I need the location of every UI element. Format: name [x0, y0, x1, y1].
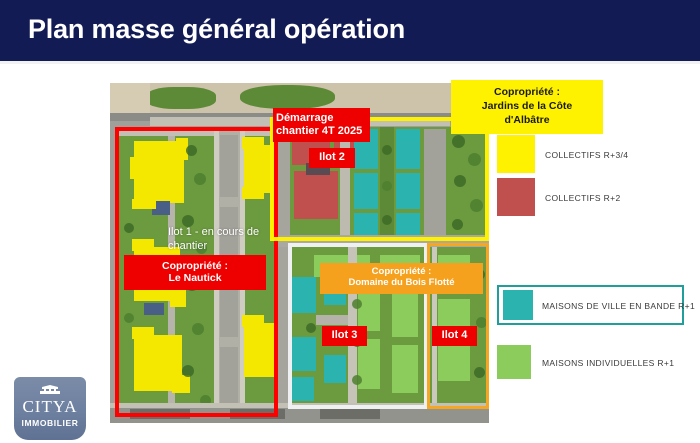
legend-swatch-maisons-ville — [503, 290, 533, 320]
page-title: Plan masse général opération — [28, 14, 405, 45]
callout-ilot-4: Ilot 4 — [432, 326, 477, 346]
callout-ilot-3: Ilot 3 — [322, 326, 367, 346]
legend-label-maisons-individuelles: MAISONS INDIVIDUELLES R+1 — [542, 358, 674, 368]
legend-swatch-collectifs-r2 — [497, 178, 535, 216]
callout-ilot-2: Ilot 2 — [309, 148, 355, 168]
logo-subtitle: IMMOBILIER — [14, 418, 86, 428]
building-icon — [40, 385, 60, 394]
legend-label-collectifs-r2: COLLECTIFS R+2 — [545, 193, 621, 203]
citya-logo: CITYA IMMOBILIER — [14, 377, 86, 440]
callout-demarrage-chantier: Démarrage chantier 4T 2025 — [273, 108, 370, 142]
logo-wordmark: CITYA — [14, 397, 86, 417]
legend-label-collectifs-r34: COLLECTIFS R+3/4 — [545, 150, 628, 160]
header-divider — [0, 61, 700, 64]
callout-ilot-1-status: Ilot 1 - en cours de chantier — [168, 226, 278, 254]
page-header: Plan masse général opération — [0, 0, 700, 61]
callout-bois-flotte: Copropriété : Domaine du Bois Flotté — [320, 263, 483, 294]
callout-copropriete-jardins: Copropriété : Jardins de la Côte d'Albât… — [451, 80, 603, 134]
legend-swatch-collectifs-r34 — [497, 135, 535, 173]
legend-label-maisons-ville: MAISONS DE VILLE EN BANDE R+1 — [542, 301, 695, 311]
callout-ilot-1-copro: Copropriété : Le Nautick — [124, 255, 266, 290]
site-plan-map[interactable]: Ilot 1 - en cours de chantier Copropriét… — [110, 83, 489, 423]
legend-swatch-maisons-individuelles — [497, 345, 531, 379]
